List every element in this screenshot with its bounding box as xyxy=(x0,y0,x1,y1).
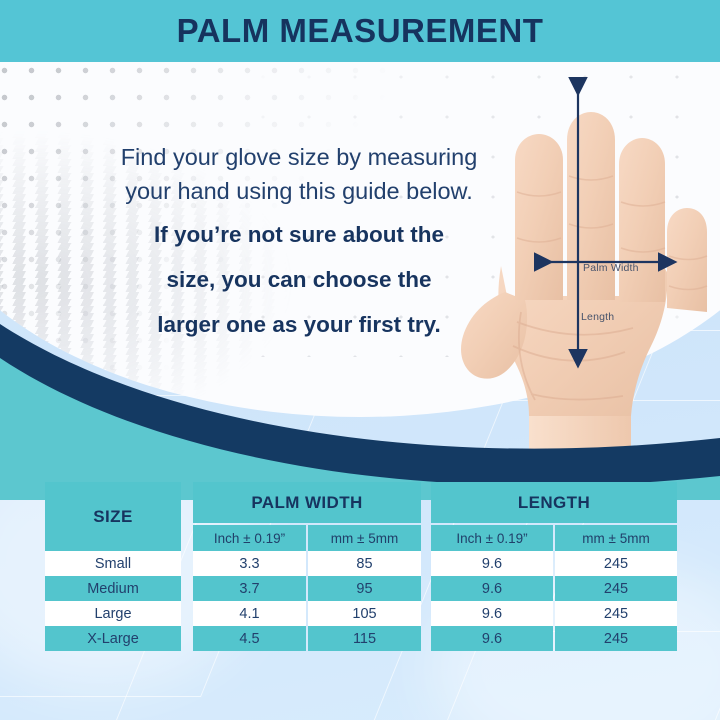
intro-bold-line-1: If you’re not sure about the xyxy=(84,217,514,253)
table-cell: 9.6 xyxy=(431,626,553,651)
table-cell: 9.6 xyxy=(431,601,553,626)
header-bar: PALM MEASUREMENT xyxy=(0,0,720,62)
table-row: 3.385 xyxy=(193,551,421,576)
table-row: 9.6245 xyxy=(431,551,677,576)
table-cell: 245 xyxy=(555,601,677,626)
table-cell: 9.6 xyxy=(431,551,553,576)
intro-bold-line-3: larger one as your first try. xyxy=(84,307,514,343)
table-row-size: X-Large xyxy=(45,626,181,651)
length-label: Length xyxy=(581,311,614,323)
intro-line-2: your hand using this guide below. xyxy=(84,174,514,208)
table-cell: 3.3 xyxy=(193,551,306,576)
palm-width-column-group: PALM WIDTH Inch ± 0.19” mm ± 5mm 3.3853.… xyxy=(193,482,421,651)
table-cell: 245 xyxy=(555,551,677,576)
subheader-mm: mm ± 5mm xyxy=(555,525,677,551)
table-cell: 95 xyxy=(308,576,421,601)
table-cell: 245 xyxy=(555,576,677,601)
intro-line-1: Find your glove size by measuring xyxy=(84,140,514,174)
table-cell: 85 xyxy=(308,551,421,576)
table-cell: 115 xyxy=(308,626,421,651)
table-row: 9.6245 xyxy=(431,576,677,601)
table-cell: 4.5 xyxy=(193,626,306,651)
header-length: LENGTH xyxy=(431,482,677,523)
infographic-page: Palm Width Length PALM MEASUREMENT Find … xyxy=(0,0,720,720)
table-row: 4.5115 xyxy=(193,626,421,651)
subheader-mm: mm ± 5mm xyxy=(308,525,421,551)
table-cell: 9.6 xyxy=(431,576,553,601)
table-row: 9.6245 xyxy=(431,626,677,651)
table-row-size: Small xyxy=(45,551,181,576)
table-row-size: Medium xyxy=(45,576,181,601)
table-row: 3.795 xyxy=(193,576,421,601)
subheader-inch: Inch ± 0.19” xyxy=(431,525,553,551)
size-column-group: SIZE SmallMediumLargeX-Large xyxy=(45,482,181,651)
table-cell: 3.7 xyxy=(193,576,306,601)
length-subheaders: Inch ± 0.19” mm ± 5mm xyxy=(431,525,677,551)
table-row-size: Large xyxy=(45,601,181,626)
page-title: PALM MEASUREMENT xyxy=(177,12,544,50)
table-cell: 105 xyxy=(308,601,421,626)
size-cells: SmallMediumLargeX-Large xyxy=(45,551,181,651)
intro-copy: Find your glove size by measuring your h… xyxy=(84,140,514,343)
table-row: 4.1105 xyxy=(193,601,421,626)
table-cell: 245 xyxy=(555,626,677,651)
table-row: 9.6245 xyxy=(431,601,677,626)
palm-width-subheaders: Inch ± 0.19” mm ± 5mm xyxy=(193,525,421,551)
subheader-inch: Inch ± 0.19” xyxy=(193,525,306,551)
length-rows: 9.62459.62459.62459.6245 xyxy=(431,551,677,651)
palm-width-rows: 3.3853.7954.11054.5115 xyxy=(193,551,421,651)
palm-width-label: Palm Width xyxy=(583,262,639,274)
header-size: SIZE xyxy=(45,482,181,551)
intro-bold-line-2: size, you can choose the xyxy=(84,262,514,298)
table-cell: 4.1 xyxy=(193,601,306,626)
header-palm-width: PALM WIDTH xyxy=(193,482,421,523)
length-column-group: LENGTH Inch ± 0.19” mm ± 5mm 9.62459.624… xyxy=(431,482,677,651)
